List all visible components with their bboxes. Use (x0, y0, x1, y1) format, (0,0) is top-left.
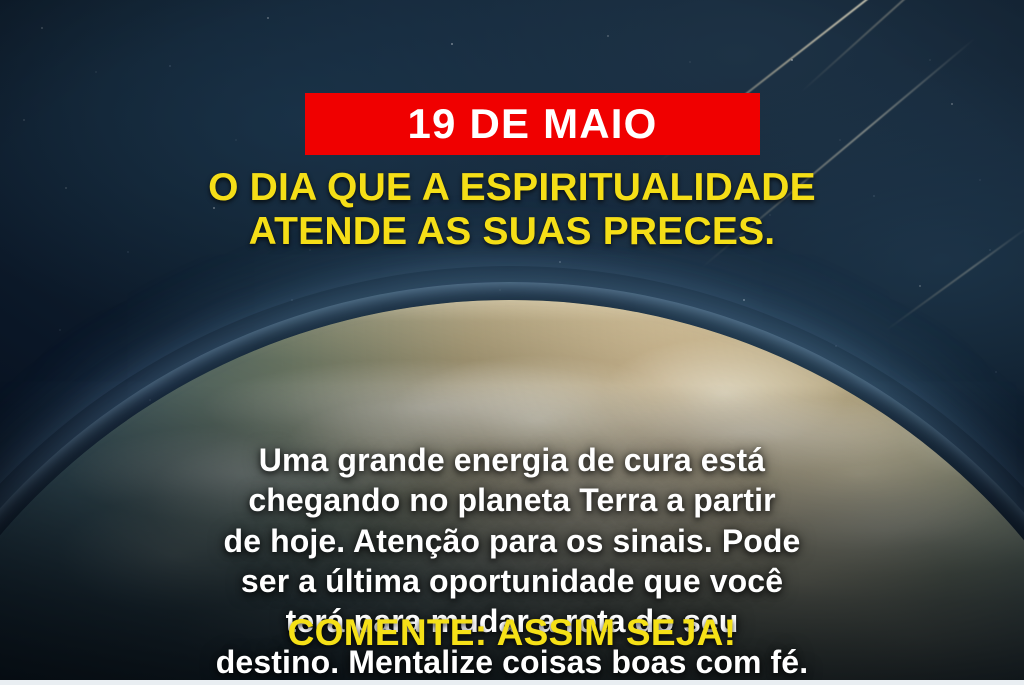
headline-line-1: O DIA QUE A ESPIRITUALIDADE (0, 166, 1024, 210)
bottom-edge-strip (0, 680, 1024, 685)
poster-canvas: 19 DE MAIO O DIA QUE A ESPIRITUALIDADE A… (0, 0, 1024, 685)
body-line-3: de hoje. Atenção para os sinais. Pode (52, 521, 972, 561)
date-banner-text: 19 DE MAIO (407, 103, 657, 145)
date-banner: 19 DE MAIO (305, 93, 760, 155)
body-line-1: Uma grande energia de cura está (52, 440, 972, 480)
body-line-4: ser a última oportunidade que você (52, 561, 972, 601)
headline-line-2: ATENDE AS SUAS PRECES. (0, 210, 1024, 254)
call-to-action-text: COMENTE: ASSIM SEJA! (0, 612, 1024, 654)
page-title: O DIA QUE A ESPIRITUALIDADE ATENDE AS SU… (0, 166, 1024, 253)
text-content-layer: 19 DE MAIO O DIA QUE A ESPIRITUALIDADE A… (0, 0, 1024, 685)
body-line-2: chegando no planeta Terra a partir (52, 480, 972, 520)
